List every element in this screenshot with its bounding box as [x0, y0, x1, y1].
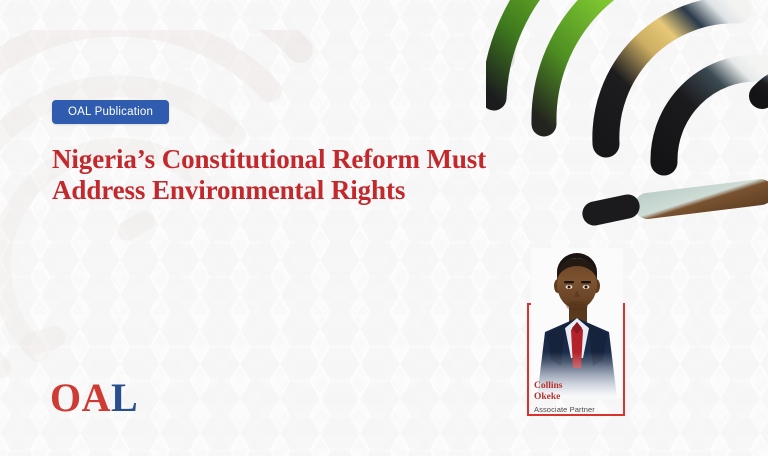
logo-letter-a: A	[82, 375, 111, 420]
author-portrait	[531, 248, 623, 398]
author-last-name: Okeke	[534, 392, 622, 403]
page-title: Nigeria’s Constitutional Reform Must Add…	[52, 144, 522, 207]
publication-banner: OAL Publication Nigeria’s Constitutional…	[0, 0, 768, 456]
author-role: Associate Partner	[534, 405, 622, 414]
arc-motif-graphic	[486, 0, 768, 258]
author-details: Collins Okeke Associate Partner	[534, 381, 622, 414]
headline-line-1: Nigeria’s Constitutional Reform Must	[52, 144, 486, 174]
publication-badge[interactable]: OAL Publication	[52, 100, 169, 124]
headline-line-2: Address Environmental Rights	[52, 175, 522, 206]
logo-letter-o: O	[50, 375, 82, 420]
author-first-name: Collins	[534, 381, 622, 392]
logo-letter-l: L	[111, 375, 138, 420]
oal-logo[interactable]: OAL	[50, 378, 138, 418]
author-card: Collins Okeke Associate Partner	[527, 248, 631, 420]
